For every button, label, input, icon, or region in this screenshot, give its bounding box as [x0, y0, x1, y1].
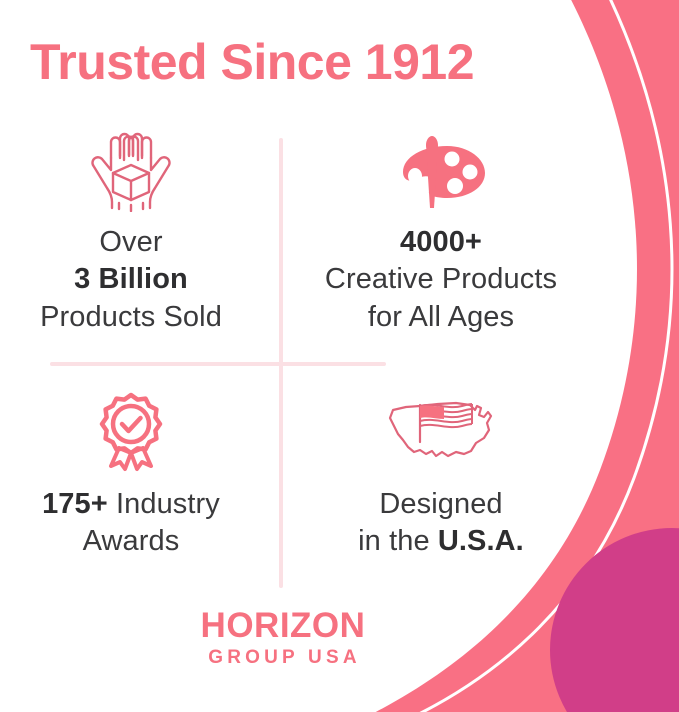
rosette-shape	[102, 395, 160, 453]
stat-line-awards: Awards	[83, 525, 180, 557]
hands-holding-box-icon	[71, 128, 191, 214]
stat-text-products-sold: Over 3 Billion Products Sold	[40, 224, 222, 336]
stat-line-products-sold: Products Sold	[40, 301, 222, 333]
stat-block-industry-awards: 175+ Industry Awards	[0, 388, 262, 561]
flag-canton	[420, 405, 444, 419]
pink-swoosh-shape	[360, 0, 679, 712]
stat-block-designed-in-usa: Designed in the U.S.A.	[296, 388, 586, 561]
stat-line-creative-products: Creative Products	[325, 263, 557, 295]
stat-line-4000-plus: 4000+	[400, 226, 482, 258]
stat-text-creative-products: 4000+ Creative Products for All Ages	[325, 224, 557, 336]
stat-line-175-plus: 175+	[42, 488, 108, 520]
page-title: Trusted Since 1912	[30, 33, 474, 91]
art-palette-brush-icon	[389, 128, 493, 214]
stat-line-3-billion: 3 Billion	[74, 263, 188, 295]
stat-line-in-the: in the	[358, 525, 438, 557]
stat-line-over: Over	[99, 226, 162, 258]
stat-line-usa: U.S.A.	[438, 525, 524, 557]
swoosh-white-line	[398, 0, 672, 712]
stat-line-for-all-ages: for All Ages	[368, 301, 514, 333]
stat-text-industry-awards: 175+ Industry Awards	[42, 486, 220, 561]
brand-logo: HORIZON GROUP USA	[0, 608, 566, 667]
stat-line-designed: Designed	[379, 488, 502, 520]
divider-horizontal	[50, 362, 386, 366]
stat-block-products-sold: Over 3 Billion Products Sold	[0, 128, 262, 336]
award-ribbon-check-icon	[89, 388, 173, 472]
logo-wordmark: HORIZON	[201, 608, 366, 643]
stat-text-designed-in-usa: Designed in the U.S.A.	[358, 486, 524, 561]
ribbon-right-tail	[131, 448, 151, 469]
stat-block-creative-products: 4000+ Creative Products for All Ages	[296, 128, 586, 336]
ribbon-left-tail	[111, 448, 131, 469]
infographic-canvas: Trusted Since 1912	[0, 0, 679, 712]
paintbrush-shape	[426, 136, 438, 153]
stat-line-industry: Industry	[108, 488, 220, 520]
usa-map-flag-icon	[376, 388, 506, 472]
logo-tagline: GROUP USA	[208, 648, 361, 667]
